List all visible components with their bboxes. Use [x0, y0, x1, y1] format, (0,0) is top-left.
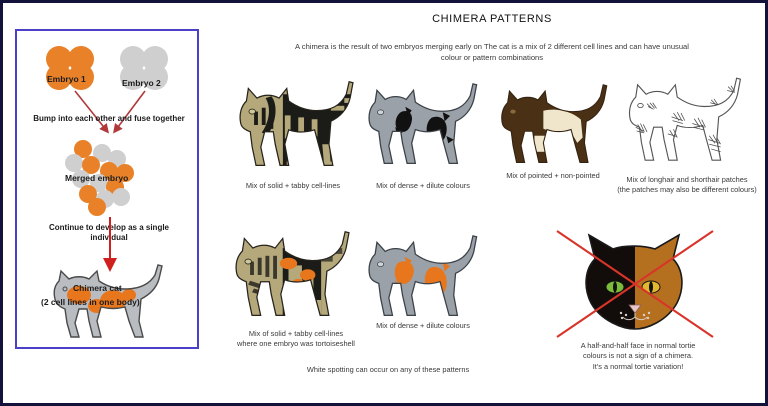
cat-tabby-tortie — [221, 227, 356, 323]
caption-line-1: Mix of solid + tabby cell-lines — [246, 181, 340, 190]
caption-line-1: Mix of solid + tabby cell-lines — [249, 329, 343, 338]
embryo-2-label: Embryo 2 — [122, 78, 161, 88]
caption-cat-dense-dilute: Mix of dense + dilute colours — [348, 181, 498, 191]
caption-line-1: Mix of dense + dilute colours — [376, 321, 470, 330]
tortie-note-line-2: colours is not a sign of a chimera. — [583, 351, 693, 360]
chimera-cat-sublabel: (2 cell lines in one body) — [41, 297, 140, 307]
caption-line-1: Mix of pointed + non-pointed — [506, 171, 599, 180]
step-fuse-text: Bump into each other and fuse together — [19, 114, 199, 124]
tortie-note: A half-and-half face in normal tortie co… — [538, 341, 738, 372]
cat-dense-dilute — [355, 77, 483, 173]
embryo-1-label: Embryo 1 — [47, 74, 86, 84]
caption-line-1: Mix of longhair and shorthair patches — [626, 175, 747, 184]
subtitle-line-1: A chimera is the result of two embryos m… — [295, 42, 689, 51]
white-spotting-note: White spotting can occur on any of these… — [218, 365, 558, 374]
embryo-1-cell-cluster — [43, 45, 99, 91]
tortie-face-with-cross — [551, 225, 719, 341]
cat-solid-tabby — [225, 77, 360, 173]
caption-line-2: (the patches may also be different colou… — [617, 185, 757, 194]
subtitle-line-2: colour or pattern combinations — [441, 53, 543, 62]
merged-embryo-label: Merged embryo — [65, 173, 128, 183]
chimera-cat-label: Chimera cat — [73, 283, 122, 293]
caption-cat-longhair: Mix of longhair and shorthair patches (t… — [603, 175, 768, 195]
caption-cat-tabby-tortie: Mix of solid + tabby cell-lines where on… — [211, 329, 381, 349]
page-subtitle: A chimera is the result of two embryos m… — [231, 41, 753, 63]
cat-longhair-shorthair — [615, 73, 747, 173]
caption-cat-dense-dilute-orange: Mix of dense + dilute colours — [348, 321, 498, 331]
tortie-note-line-3: It's a normal tortie variation! — [593, 362, 684, 371]
caption-line-2: where one embryo was tortoiseshell — [237, 339, 355, 348]
cat-dense-dilute-orange — [355, 229, 483, 325]
page-title: CHIMERA PATTERNS — [213, 13, 768, 25]
caption-cat-pointed: Mix of pointed + non-pointed — [483, 171, 623, 181]
chimera-formation-panel: Embryo 1 Embryo 2 Bump into each other a… — [15, 29, 199, 349]
cat-pointed-nonpointed — [488, 77, 613, 173]
caption-line-1: Mix of dense + dilute colours — [376, 181, 470, 190]
chimera-patterns-poster: Embryo 1 Embryo 2 Bump into each other a… — [0, 0, 768, 406]
tortie-note-line-1: A half-and-half face in normal tortie — [581, 341, 696, 350]
